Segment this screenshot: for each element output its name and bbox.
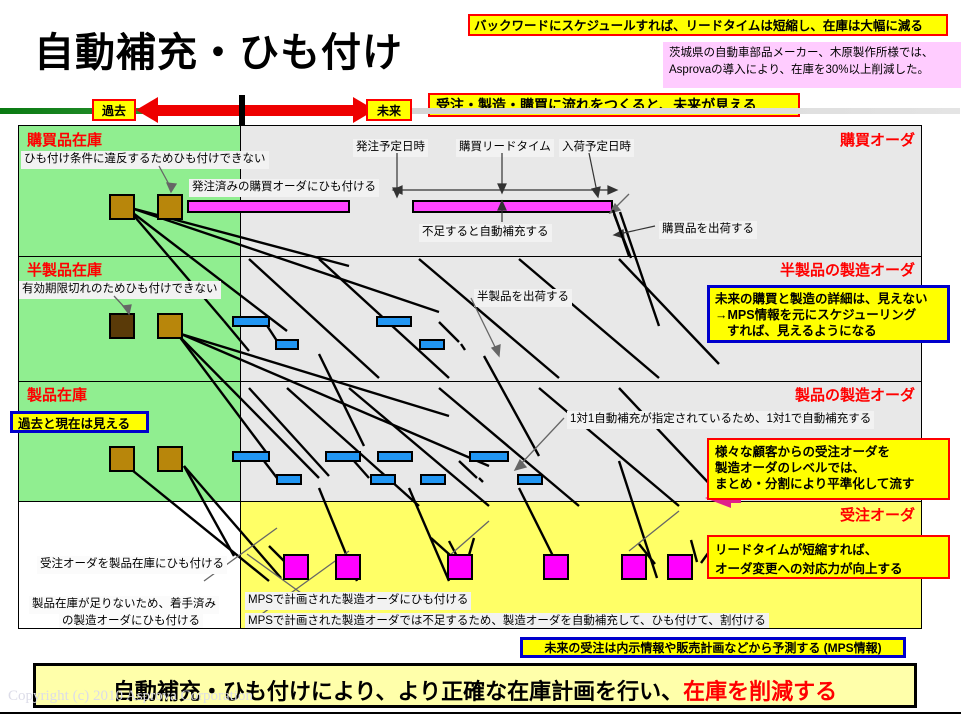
- lead-line-1: リードタイムが短縮すれば、: [715, 541, 942, 560]
- sales-order-block-1[interactable]: [283, 554, 309, 580]
- page-title: 自動補充・ひも付け: [34, 20, 403, 78]
- bottom-rule: [0, 712, 961, 714]
- mfg-order-semi-1[interactable]: [232, 316, 270, 327]
- mfg-order-product-2[interactable]: [276, 474, 302, 485]
- label-past: 過去: [92, 99, 136, 121]
- label-purchase-order: 購買オーダ: [840, 129, 915, 150]
- stock-block-purchase-2[interactable]: [157, 194, 183, 220]
- callout-past-present-visible: 過去と現在は見える: [10, 411, 149, 433]
- lead-line-2: オーダ変更への対応力が向上する: [715, 560, 942, 579]
- label-future: 未来: [366, 99, 412, 121]
- stock-block-purchase-1[interactable]: [109, 194, 135, 220]
- note-one-to-one-replenish: 1対1自動補充が指定されているため、1対1で自動補充する: [567, 411, 874, 429]
- sales-order-block-2[interactable]: [335, 554, 361, 580]
- future-arrow-shaft: [243, 105, 353, 116]
- note-planned-arrival-date: 入荷予定日時: [559, 139, 634, 157]
- banner-highlight-text: 在庫を削減する: [683, 679, 837, 704]
- sales-order-block-5[interactable]: [621, 554, 647, 580]
- mps-line-2: →MPS情報を元にスケジューリング: [715, 307, 942, 323]
- mfg-order-semi-4[interactable]: [419, 339, 445, 350]
- callout-backward-schedule: バックワードにスケジュールすれば、リードタイムは短縮し、在庫は大幅に減る: [468, 14, 948, 36]
- purchase-order-bar-issued[interactable]: [187, 200, 350, 213]
- divider-product-sales: [19, 501, 922, 502]
- note-ship-purchased-item: 購買品を出荷する: [659, 221, 757, 239]
- level-line-3: まとめ・分割により平準化して流す: [715, 476, 942, 492]
- note-planned-order-date: 発注予定日時: [353, 139, 428, 157]
- divider-semi-product: [19, 381, 922, 382]
- note-expired-cannot-peg: 有効期限切れのためひも付けできない: [19, 281, 221, 299]
- note-insufficient-stock-2: の製造オーダにひも付ける: [59, 613, 203, 629]
- mps-line-3: すれば、見えるようになる: [715, 323, 942, 339]
- past-arrow-head: [136, 97, 158, 123]
- label-semifinished-order: 半製品の製造オーダ: [780, 259, 915, 280]
- note-mps-shortage-autoreplenish: MPSで計画された製造オーダでは不足するため、製造オーダを自動補充して、ひも付け…: [245, 613, 769, 629]
- note-constraint-violation: ひも付け条件に違反するためひも付けできない: [21, 151, 269, 169]
- label-sales-order: 受注オーダ: [840, 504, 915, 525]
- mfg-order-product-3[interactable]: [325, 451, 361, 462]
- mps-line-1: 未来の購買と製造の詳細は、見えない: [715, 291, 942, 307]
- mfg-order-product-6[interactable]: [420, 474, 446, 485]
- past-arrow-shaft: [155, 105, 241, 116]
- mfg-order-product-5[interactable]: [377, 451, 413, 462]
- sales-order-block-6[interactable]: [667, 554, 693, 580]
- label-product-order: 製品の製造オーダ: [795, 384, 915, 405]
- mfg-order-product-8[interactable]: [517, 474, 543, 485]
- label-purchase-inventory: 購買品在庫: [27, 129, 102, 150]
- note-purchase-lead-time: 購買リードタイム: [456, 139, 554, 157]
- note-peg-so-to-stock: 受注オーダを製品在庫にひも付ける: [37, 556, 227, 574]
- callout-mps-scheduling: 未来の購買と製造の詳細は、見えない →MPS情報を元にスケジューリング すれば、…: [707, 285, 950, 343]
- now-marker: [239, 95, 245, 125]
- purchase-order-bar-planned[interactable]: [412, 200, 613, 213]
- sales-order-block-3[interactable]: [447, 554, 473, 580]
- stock-block-product-1[interactable]: [109, 446, 135, 472]
- note-ship-semifinished: 半製品を出荷する: [474, 289, 572, 307]
- stock-block-semi-1[interactable]: [109, 313, 135, 339]
- case-line-2: Asprovaの導入により、在庫を30%以上削減した。: [669, 62, 955, 79]
- callout-customer-case: 茨城県の自動車部品メーカー、木原製作所様では、 Asprovaの導入により、在庫…: [663, 42, 961, 88]
- level-line-2: 製造オーダのレベルでは、: [715, 460, 942, 476]
- callout-leveling: 様々な顧客からの受注オーダを 製造オーダのレベルでは、 まとめ・分割により平準化…: [707, 438, 950, 500]
- mfg-order-semi-3[interactable]: [376, 316, 412, 327]
- case-line-1: 茨城県の自動車部品メーカー、木原製作所様では、: [669, 45, 955, 62]
- stock-block-product-2[interactable]: [157, 446, 183, 472]
- label-semifinished-inventory: 半製品在庫: [27, 259, 102, 280]
- label-product-inventory: 製品在庫: [27, 384, 87, 405]
- callout-lead-time: リードタイムが短縮すれば、 オーダ変更への対応力が向上する: [707, 535, 950, 579]
- mfg-order-semi-2[interactable]: [275, 339, 299, 350]
- sales-order-block-4[interactable]: [543, 554, 569, 580]
- note-insufficient-stock-1: 製品在庫が足りないため、着手済み: [29, 596, 219, 614]
- stock-block-semi-2[interactable]: [157, 313, 183, 339]
- mfg-order-product-4[interactable]: [370, 474, 396, 485]
- note-auto-replenish-shortage: 不足すると自動補充する: [419, 224, 552, 242]
- copyright-watermark: Copyright (c) 2010 Asprova Corporation: [8, 688, 253, 705]
- divider-purchase-semi: [19, 256, 922, 257]
- mfg-order-product-1[interactable]: [232, 451, 270, 462]
- callout-forecast-mps: 未来の受注は内示情報や販売計画などから予測する (MPS情報): [520, 637, 906, 658]
- level-line-1: 様々な顧客からの受注オーダを: [715, 444, 942, 460]
- note-peg-to-mps-order: MPSで計画された製造オーダにひも付ける: [245, 592, 471, 610]
- mfg-order-product-7[interactable]: [469, 451, 509, 462]
- note-peg-to-issued-po: 発注済みの購買オーダにひも付ける: [189, 179, 379, 197]
